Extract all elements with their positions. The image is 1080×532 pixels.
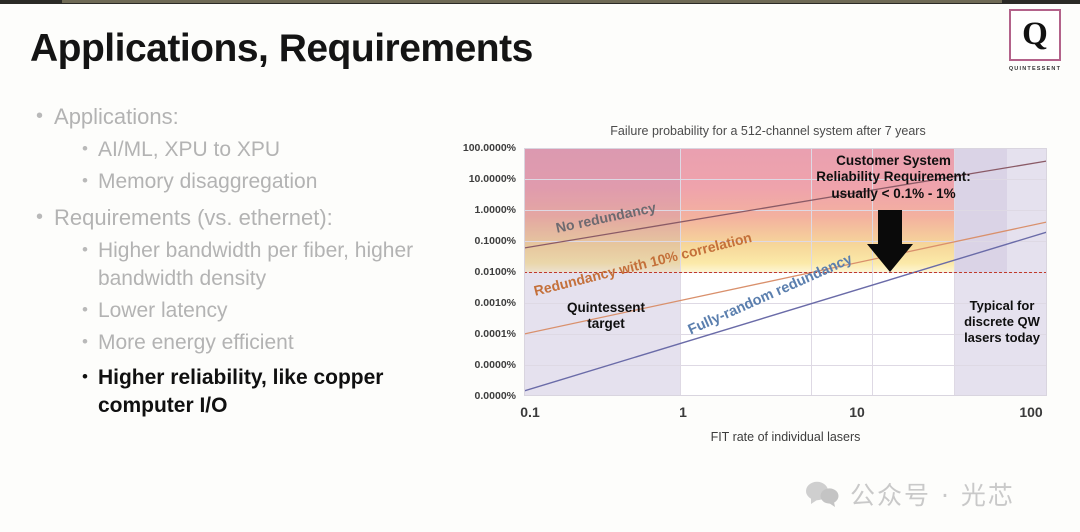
page-title: Applications, Requirements <box>30 27 533 71</box>
bullet-item-energy-efficient: • More energy efficient <box>82 329 446 357</box>
bullet-dot-icon: • <box>82 368 88 385</box>
annotation-line: lasers today <box>956 330 1047 346</box>
bullet-dot-icon: • <box>82 333 88 350</box>
bullet-item-higher-bandwidth: • Higher bandwidth per fiber, higher ban… <box>82 237 446 293</box>
watermark-text: 公众号 · 光芯 <box>850 476 1015 512</box>
bullet-text: Applications: <box>54 102 179 131</box>
annotation-line: Quintessent <box>546 300 666 316</box>
y-axis-tick: 0.0000% <box>436 390 516 402</box>
bullet-item-lower-latency: • Lower latency <box>82 297 446 325</box>
bullet-dot-icon: • <box>82 140 88 157</box>
bullet-item-requirements: • Requirements (vs. ethernet): <box>36 203 446 232</box>
bullet-text: More energy efficient <box>98 329 294 357</box>
y-axis-tick: 10.0000% <box>436 173 516 185</box>
x-axis-tick: 0.1 <box>520 404 539 420</box>
annotation-line: discrete QW <box>956 314 1047 330</box>
bullet-text: Requirements (vs. ethernet): <box>54 203 333 232</box>
bullet-item-higher-reliability: • Higher reliability, like copper comput… <box>82 364 446 420</box>
bullet-dot-icon: • <box>82 241 88 258</box>
x-axis-title: FIT rate of individual lasers <box>524 430 1047 444</box>
annotation-line: Typical for <box>956 298 1047 314</box>
bullet-dot-icon: • <box>82 301 88 318</box>
logo-q-mark: Q <box>1011 18 1059 51</box>
logo-frame: Q <box>1009 9 1061 61</box>
bullet-dot-icon: • <box>82 172 88 189</box>
annotation-typical-qw: Typical for discrete QW lasers today <box>956 298 1047 346</box>
logo-caption: QUINTESSENT <box>1004 66 1066 72</box>
y-axis-tick: 0.0010% <box>436 297 516 309</box>
y-axis-tick: 0.0100% <box>436 266 516 278</box>
bullet-item-memory-disaggregation: • Memory disaggregation <box>82 168 446 196</box>
x-axis-tick: 1 <box>679 404 687 420</box>
failure-probability-chart: Failure probability for a 512-channel sy… <box>440 124 1060 464</box>
bullet-text: Higher bandwidth per fiber, higher bandw… <box>98 237 446 293</box>
top-edge-strip <box>0 0 1080 4</box>
bullet-text: Lower latency <box>98 297 228 325</box>
chart-title: Failure probability for a 512-channel sy… <box>508 124 1028 138</box>
annotation-line: usually < 0.1% - 1% <box>786 186 1001 202</box>
bullet-dot-icon: • <box>36 106 43 126</box>
top-edge-strip-inner <box>62 0 1002 3</box>
bullet-list: • Applications: • AI/ML, XPU to XPU • Me… <box>36 102 446 424</box>
down-arrow-icon <box>867 210 913 272</box>
y-axis-tick: 0.1000% <box>436 235 516 247</box>
wechat-icon <box>806 481 840 507</box>
bullet-text: Higher reliability, like copper computer… <box>98 364 446 420</box>
y-axis-tick: 0.0000% <box>436 359 516 371</box>
bullet-item-ai-ml: • AI/ML, XPU to XPU <box>82 136 446 164</box>
bullet-item-applications: • Applications: <box>36 102 446 131</box>
y-axis-tick: 0.0001% <box>436 328 516 340</box>
bullet-dot-icon: • <box>36 207 43 227</box>
x-axis-tick: 10 <box>849 404 865 420</box>
y-axis-tick: 1.0000% <box>436 204 516 216</box>
bullet-text: AI/ML, XPU to XPU <box>98 136 280 164</box>
plot-area: Customer System Reliability Requirement:… <box>524 148 1047 396</box>
y-axis-tick: 100.0000% <box>436 142 516 154</box>
annotation-line: target <box>546 316 666 332</box>
wechat-watermark: 公众号 · 光芯 <box>806 476 1015 512</box>
annotation-customer-requirement: Customer System Reliability Requirement:… <box>786 153 1001 202</box>
annotation-quintessent-target: Quintessent target <box>546 300 666 333</box>
bullet-text: Memory disaggregation <box>98 168 317 196</box>
x-axis-tick: 100 <box>1019 404 1042 420</box>
quintessent-logo: Q QUINTESSENT <box>1004 9 1066 72</box>
annotation-line: Customer System <box>786 153 1001 169</box>
annotation-line: Reliability Requirement: <box>786 169 1001 185</box>
